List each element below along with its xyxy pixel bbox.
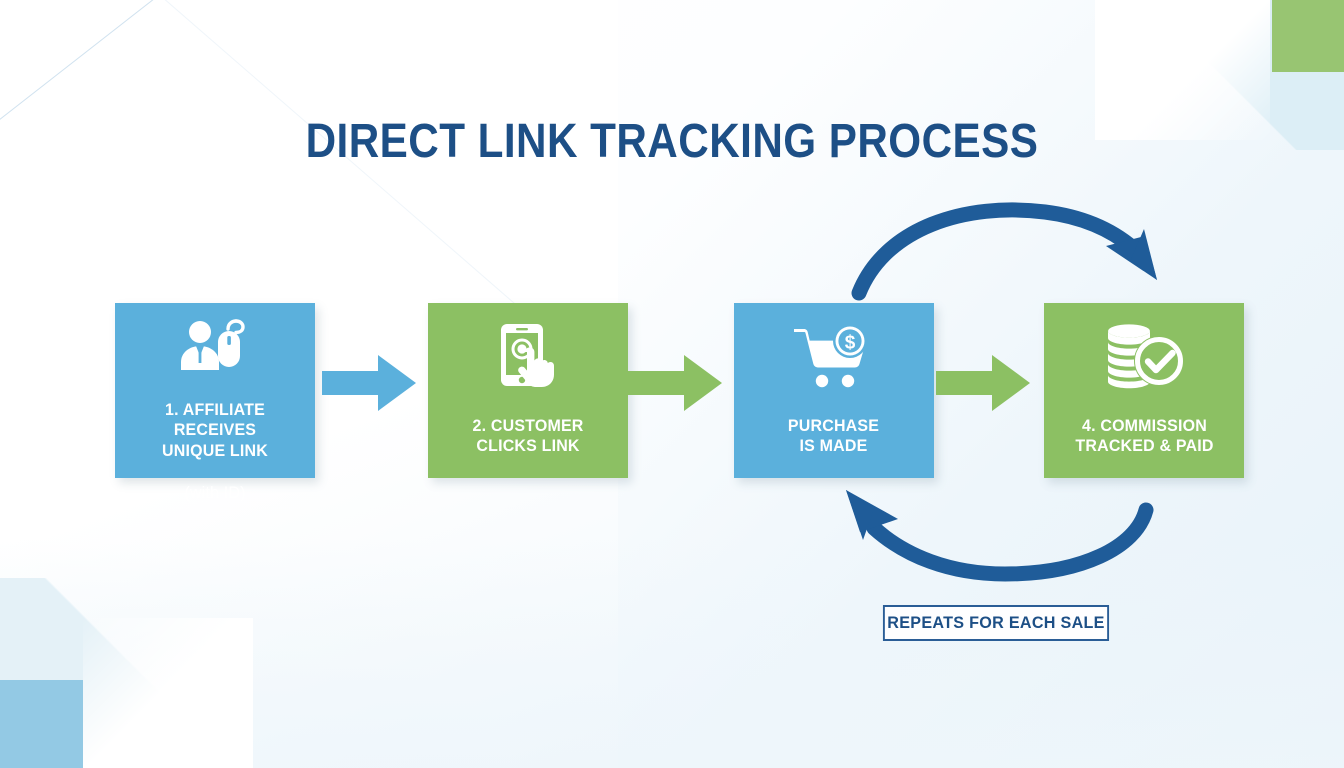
process-step-3[interactable]: $ PURCHASE IS MADE	[734, 303, 934, 478]
diagram-stage: DIRECT LINK TRACKING PROCESS 1. AFFILIAT…	[0, 0, 1344, 768]
page-title: DIRECT LINK TRACKING PROCESS	[81, 118, 1264, 166]
repeats-for-each-sale-label: REPEATS FOR EACH SALE	[883, 605, 1109, 641]
connector-arrow-3	[936, 352, 1032, 414]
process-step-3-caption-main: PURCHASE IS MADE	[788, 416, 879, 456]
process-step-3-caption: PURCHASE IS MADE	[783, 395, 885, 457]
coins-check-icon	[1103, 317, 1185, 395]
process-step-1-caption-sub: (with ID)	[184, 483, 245, 502]
process-step-2-caption-main: 2. CUSTOMER CLICKS LINK	[472, 416, 583, 456]
svg-text:$: $	[845, 333, 856, 354]
user-with-mouse-icon	[176, 317, 254, 379]
loop-arrow-top	[845, 198, 1175, 303]
smartphone-tap-icon	[489, 317, 567, 395]
connector-arrow-1	[322, 352, 418, 414]
process-step-2[interactable]: 2. CUSTOMER CLICKS LINK	[428, 303, 628, 478]
process-step-4[interactable]: 4. COMMISSION TRACKED & PAID	[1044, 303, 1244, 478]
process-step-2-caption: 2. CUSTOMER CLICKS LINK	[467, 395, 589, 457]
connector-arrow-2	[628, 352, 724, 414]
shopping-cart-dollar-icon: $	[792, 317, 876, 395]
process-step-1-caption-main: 1. AFFILIATE RECEIVES UNIQUE LINK	[162, 400, 268, 460]
process-step-4-caption-main: 4. COMMISSION TRACKED & PAID	[1075, 416, 1213, 456]
loop-arrow-bottom	[830, 478, 1160, 586]
process-step-4-caption: 4. COMMISSION TRACKED & PAID	[1069, 395, 1218, 457]
process-step-1-caption: 1. AFFILIATE RECEIVES UNIQUE LINK (with …	[121, 379, 309, 503]
process-step-1[interactable]: 1. AFFILIATE RECEIVES UNIQUE LINK (with …	[115, 303, 315, 478]
